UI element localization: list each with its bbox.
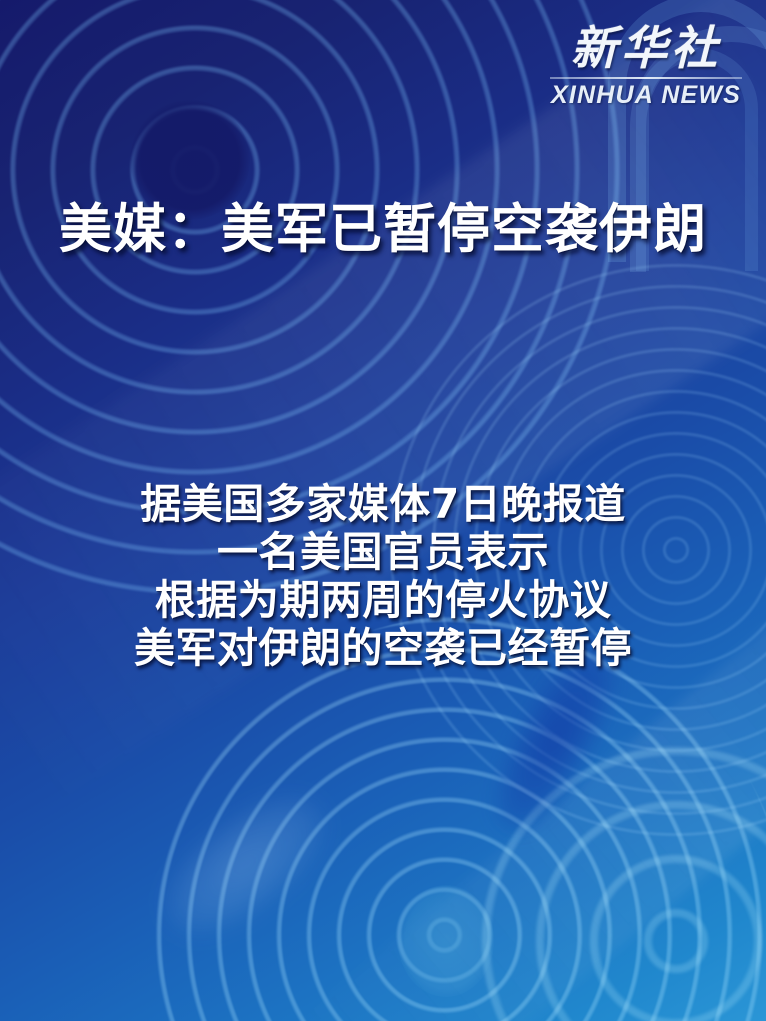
body-line-1: 据美国多家媒体7日晚报道 [0, 480, 766, 528]
logo-english-text: XINHUA NEWS [548, 81, 744, 109]
logo-divider [550, 77, 742, 79]
rings-core-bottom-icon [398, 885, 494, 997]
diagonal-sheen-band-icon [0, 0, 766, 809]
concentric-rings-corner-icon [466, 731, 766, 1021]
logo-chinese-text: 新华社 [548, 24, 744, 74]
news-poster: 新华社 XINHUA NEWS 美媒：美军已暂停空袭伊朗 据美国多家媒体7日晚报… [0, 0, 766, 1021]
body-line-4: 美军对伊朗的空袭已经暂停 [0, 624, 766, 672]
page-title: 美媒：美军已暂停空袭伊朗 [0, 196, 766, 264]
light-diagonal-streak-icon [142, 771, 347, 959]
headline-text: 美媒：美军已暂停空袭伊朗 [59, 196, 707, 264]
body-copy: 据美国多家媒体7日晚报道 一名美国官员表示 根据为期两周的停火协议 美军对伊朗的… [0, 480, 766, 672]
body-line-3: 根据为期两周的停火协议 [0, 576, 766, 624]
concentric-rings-bottom-icon [150, 615, 766, 1021]
body-line-2: 一名美国官员表示 [0, 528, 766, 576]
xinhua-logo: 新华社 XINHUA NEWS [548, 24, 744, 109]
